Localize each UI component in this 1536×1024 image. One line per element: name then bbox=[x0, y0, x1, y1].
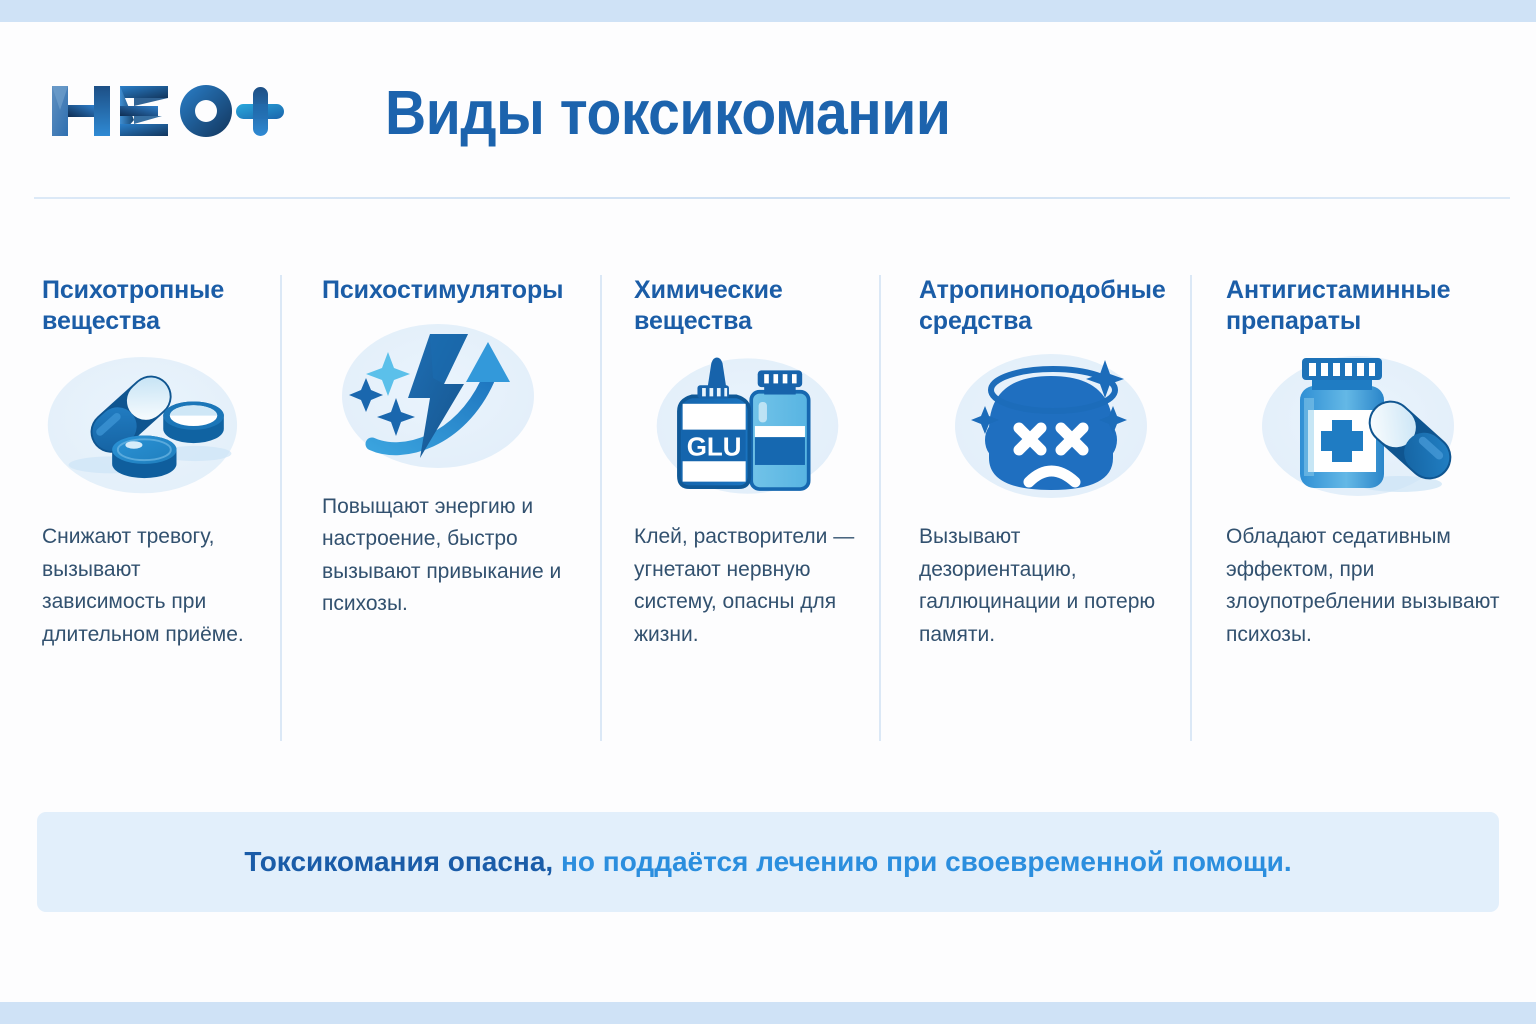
category-title: Психотропные вещества bbox=[42, 275, 256, 336]
category-description: Обладают седативным эффектом, при злоупо… bbox=[1226, 521, 1512, 651]
category-title: Атропиноподобные средства bbox=[919, 275, 1166, 336]
category-title: Психостимуляторы bbox=[322, 275, 576, 306]
footer-banner: Токсикомания опасна, но поддаётся лечени… bbox=[37, 812, 1499, 912]
medicine-bottle-capsule-icon bbox=[1226, 336, 1512, 511]
page-title: Виды токсикомании bbox=[385, 78, 950, 149]
category-description: Снижают тревогу, вызывают зависимость пр… bbox=[42, 521, 256, 651]
header-divider bbox=[34, 197, 1510, 199]
header: Виды токсикомании bbox=[0, 22, 1536, 197]
infographic-page: Виды токсикомании Психотропные вещества bbox=[0, 0, 1536, 1024]
category-card-stimulants[interactable]: Психостимуляторы bbox=[280, 275, 600, 745]
neo-plus-logo bbox=[50, 80, 285, 142]
category-title: Химические вещества bbox=[634, 275, 855, 336]
category-description: Повыщают энергию и настроение, быстро вы… bbox=[322, 491, 576, 621]
bottom-accent-band bbox=[0, 1002, 1536, 1024]
category-columns: Психотропные вещества bbox=[0, 275, 1536, 745]
category-card-antihistamines[interactable]: Антигистаминные препараты bbox=[1190, 275, 1536, 745]
category-card-atropine[interactable]: Атропиноподобные средства bbox=[879, 275, 1190, 745]
category-card-chemicals[interactable]: Химические вещества bbox=[600, 275, 879, 745]
footer-message: Токсикомания опасна, но поддаётся лечени… bbox=[244, 846, 1291, 878]
category-description: Вызывают дезориентацию, галлюцинации и п… bbox=[919, 521, 1166, 651]
category-card-psychotropic[interactable]: Психотропные вещества bbox=[0, 275, 280, 745]
top-accent-band bbox=[0, 0, 1536, 22]
glue-solvent-bottles-icon: GLU bbox=[634, 336, 855, 511]
dizzy-face-icon bbox=[919, 336, 1166, 511]
footer-light-text: но поддаётся лечению при своевременной п… bbox=[553, 846, 1291, 877]
category-title: Антигистаминные препараты bbox=[1226, 275, 1512, 336]
footer-strong-text: Токсикомания опасна, bbox=[244, 846, 553, 877]
glue-label: GLU bbox=[687, 434, 742, 462]
pills-icon bbox=[42, 336, 256, 511]
lightning-bolt-arrow-icon bbox=[322, 306, 576, 481]
category-description: Клей, растворители — угнетают нервную си… bbox=[634, 521, 855, 651]
